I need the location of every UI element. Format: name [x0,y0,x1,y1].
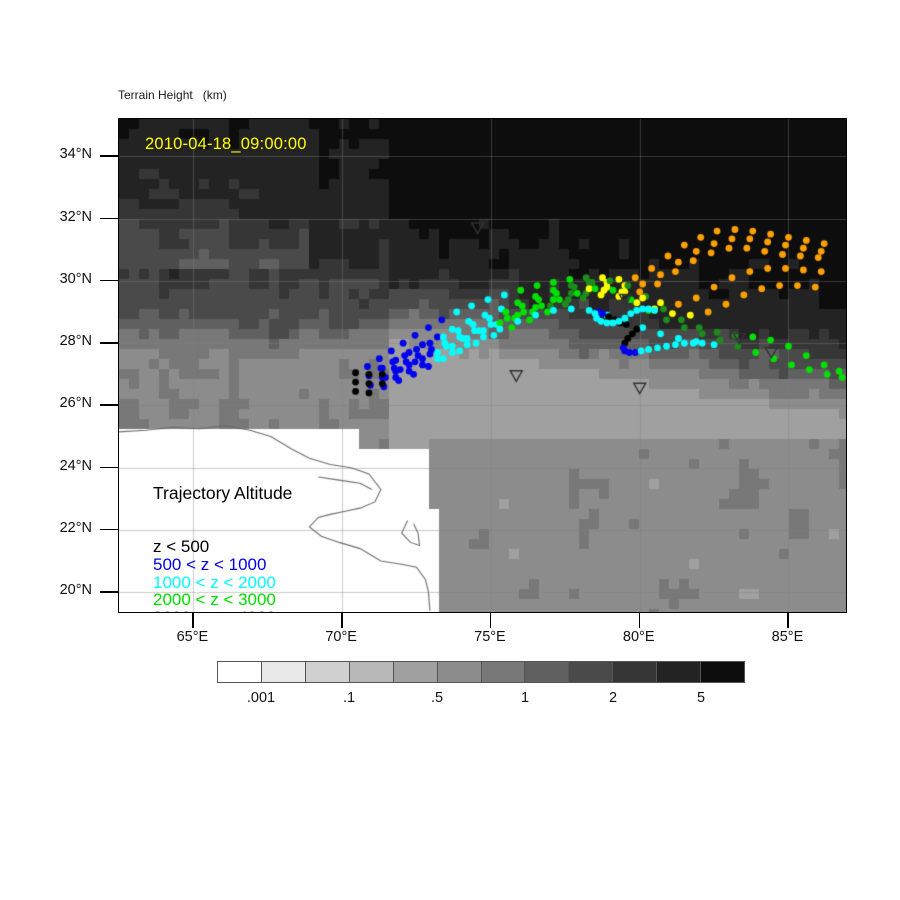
x-axis-tick-mark [639,613,641,628]
y-axis-tick-mark [100,467,118,469]
colorbar-tick-label: 2 [568,690,658,706]
colorbar-segment-9 [613,662,657,682]
y-axis-tick-label: 34°N [14,146,92,162]
colorbar-segment-6 [482,662,526,682]
colorbar-tick-label: .001 [216,690,306,706]
terrain-colorbar [217,661,745,683]
colorbar-tick-label: .1 [304,690,394,706]
colorbar-segment-0 [218,662,262,682]
y-axis-tick-mark [100,342,118,344]
y-axis-tick-mark [100,218,118,220]
x-axis-tick-mark [341,613,343,628]
x-axis-tick-label: 80°E [594,629,684,645]
timestamp-label: 2010-04-18_09:00:00 [145,135,307,154]
x-axis-tick-mark [490,613,492,628]
colorbar-segment-2 [306,662,350,682]
y-axis-tick-mark [100,591,118,593]
legend-entry-0: z < 500 [153,538,292,556]
y-axis-tick-label: 32°N [14,209,92,225]
y-axis-tick-label: 30°N [14,271,92,287]
x-axis-tick-mark [192,613,194,628]
trajectory-altitude-legend: Trajectory Altitude z < 500500 < z < 100… [153,449,292,613]
colorbar-segment-10 [657,662,701,682]
y-axis-tick-mark [100,529,118,531]
legend-title: Trajectory Altitude [153,485,292,503]
y-axis-tick-mark [100,280,118,282]
x-axis-tick-label: 75°E [445,629,535,645]
y-axis-tick-mark [100,404,118,406]
colorbar-segment-8 [569,662,613,682]
y-axis-tick-label: 20°N [14,582,92,598]
colorbar-tick-label: 1 [480,690,570,706]
legend-entry-1: 500 < z < 1000 [153,556,292,574]
figure-root: Terrain Height (km) 2010-04-18_09:00:00 … [0,0,900,900]
y-axis-tick-label: 26°N [14,395,92,411]
legend-entry-2: 1000 < z < 2000 [153,574,292,592]
y-axis-tick-mark [100,155,118,157]
colorbar-segment-11 [701,662,744,682]
colorbar-tick-label: 5 [656,690,746,706]
x-axis-tick-mark [787,613,789,628]
y-axis-tick-label: 22°N [14,520,92,536]
colorbar-tick-label: .5 [392,690,482,706]
legend-entry-4: 3000 < z < 4000 [153,609,292,613]
map-plot-area: 2010-04-18_09:00:00 Trajectory Altitude … [118,118,847,613]
x-axis-tick-label: 85°E [742,629,832,645]
colorbar-segment-5 [438,662,482,682]
colorbar-segment-1 [262,662,306,682]
colorbar-segment-4 [394,662,438,682]
page-title: Terrain Height (km) [118,88,227,102]
colorbar-segment-7 [525,662,569,682]
y-axis-tick-label: 28°N [14,333,92,349]
colorbar-segment-3 [350,662,394,682]
x-axis-tick-label: 65°E [147,629,237,645]
x-axis-tick-label: 70°E [296,629,386,645]
legend-entry-3: 2000 < z < 3000 [153,591,292,609]
y-axis-tick-label: 24°N [14,458,92,474]
